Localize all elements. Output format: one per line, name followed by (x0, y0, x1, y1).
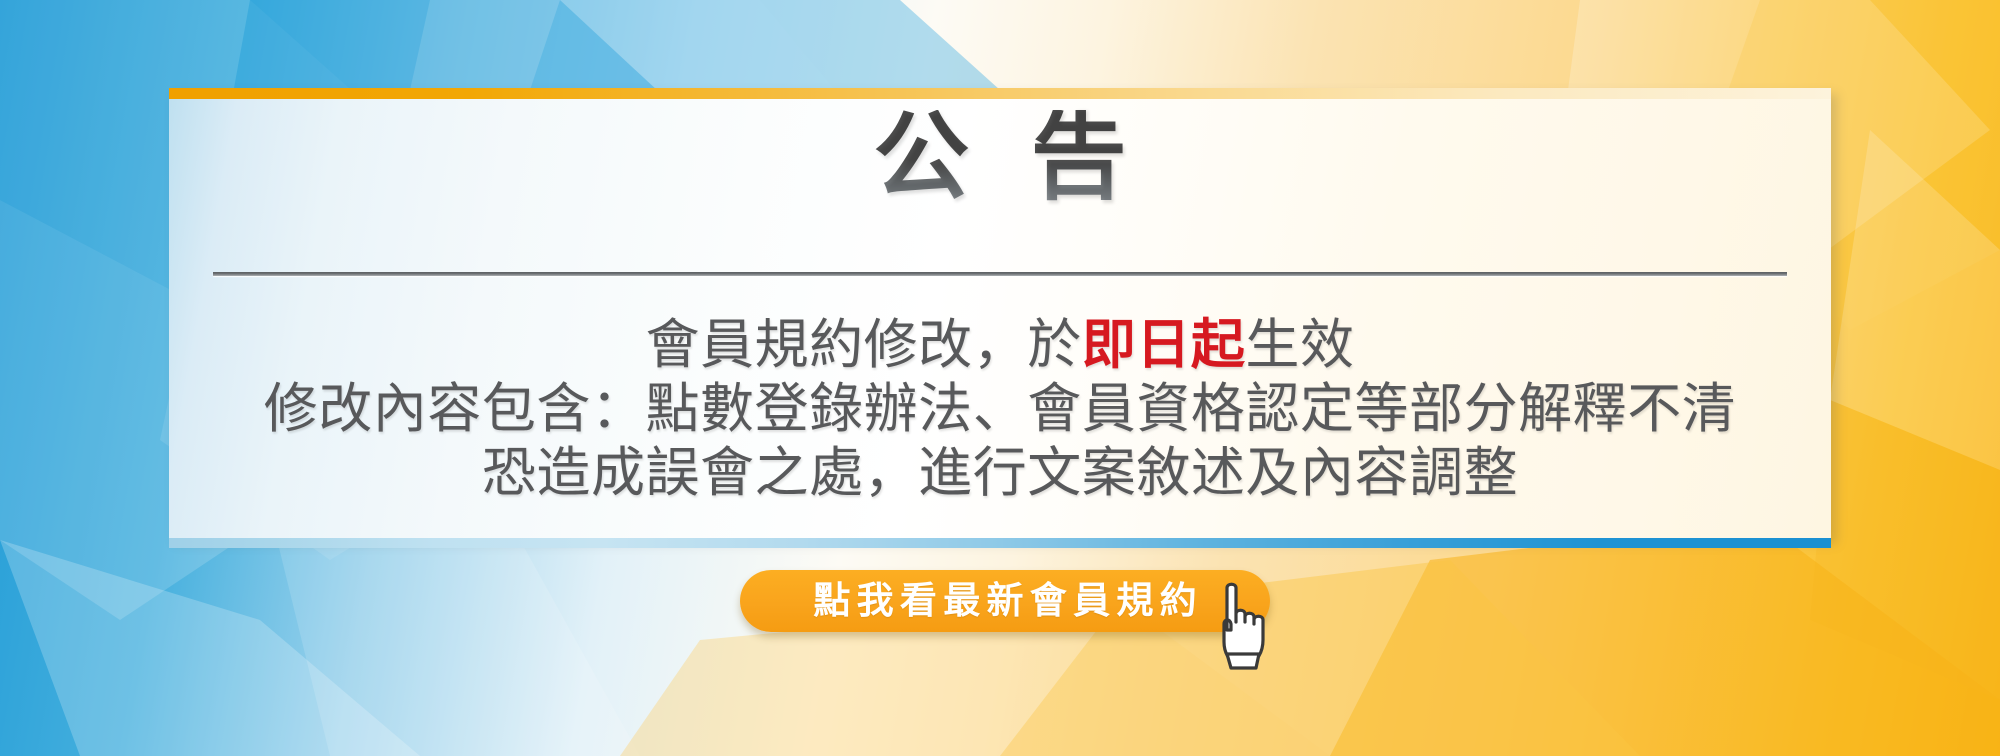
body-line-3: 恐造成誤會之處，進行文案敘述及內容調整 (0, 441, 2000, 505)
body-line-1: 會員規約修改，於即日起生效 (0, 313, 2000, 377)
body-line-2: 修改內容包含：點數登錄辦法、會員資格認定等部分解釋不清 (0, 377, 2000, 441)
body-line-1-part-b: 生效 (1245, 315, 1354, 375)
page-title: 公 告 (0, 110, 2000, 206)
card-bottom-accent-bar-wrap (169, 538, 1831, 548)
announcement-body: 會員規約修改，於即日起生效 修改內容包含：點數登錄辦法、會員資格認定等部分解釋不… (0, 313, 2000, 505)
title-divider (213, 272, 1787, 276)
announcement-banner: 公 告 會員規約修改，於即日起生效 修改內容包含：點數登錄辦法、會員資格認定等部… (0, 0, 2000, 756)
body-line-1-highlight: 即日起 (1082, 315, 1246, 375)
card-bottom-accent-bar (169, 538, 1831, 548)
card-top-accent-bar (169, 88, 1831, 99)
body-line-1-part-a: 會員規約修改，於 (645, 315, 1081, 375)
view-member-terms-button[interactable]: 點我看最新會員規約 (740, 570, 1270, 632)
